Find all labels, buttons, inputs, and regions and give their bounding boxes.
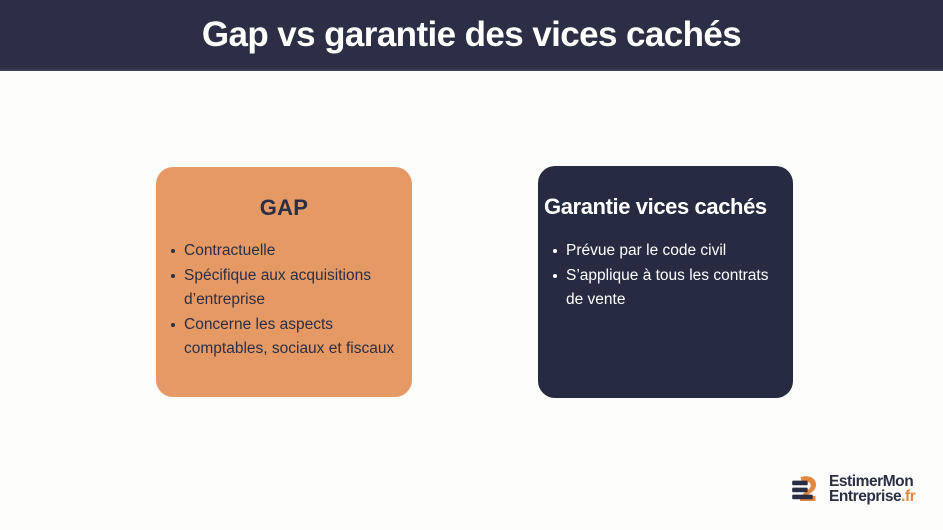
brand-logo: EstimerMon Entreprise.fr: [791, 470, 936, 508]
card-gap-list: Contractuelle Spécifique aux acquisition…: [156, 239, 412, 362]
list-item: Spécifique aux acquisitions d’entreprise: [168, 264, 412, 313]
card-garantie-vices-caches: Garantie vices cachés Prévue par le code…: [538, 166, 793, 398]
list-item: Prévue par le code civil: [550, 239, 793, 264]
list-item: Contractuelle: [168, 239, 412, 264]
estimermonentreprise-logo-icon: [791, 474, 822, 505]
list-item: Concerne les aspects comptables, sociaux…: [168, 313, 412, 362]
logo-line-2: Entreprise.fr: [829, 489, 915, 504]
logo-line-2-text: Entreprise: [829, 488, 901, 505]
logo-line-1: EstimerMon: [829, 474, 915, 489]
card-gap: GAP Contractuelle Spécifique aux acquisi…: [156, 167, 412, 397]
comparison-canvas: GAP Contractuelle Spécifique aux acquisi…: [0, 71, 943, 530]
card-garantie-title: Garantie vices cachés: [538, 166, 793, 219]
page-title: Gap vs garantie des vices cachés: [202, 17, 741, 54]
card-garantie-list: Prévue par le code civil S’applique à to…: [538, 239, 793, 313]
logo-wordmark: EstimerMon Entreprise.fr: [829, 474, 915, 504]
list-item: S’applique à tous les contrats de vente: [550, 264, 793, 313]
header-banner: Gap vs garantie des vices cachés: [0, 0, 943, 71]
card-gap-title: GAP: [156, 167, 412, 220]
logo-tld: .fr: [901, 488, 915, 505]
